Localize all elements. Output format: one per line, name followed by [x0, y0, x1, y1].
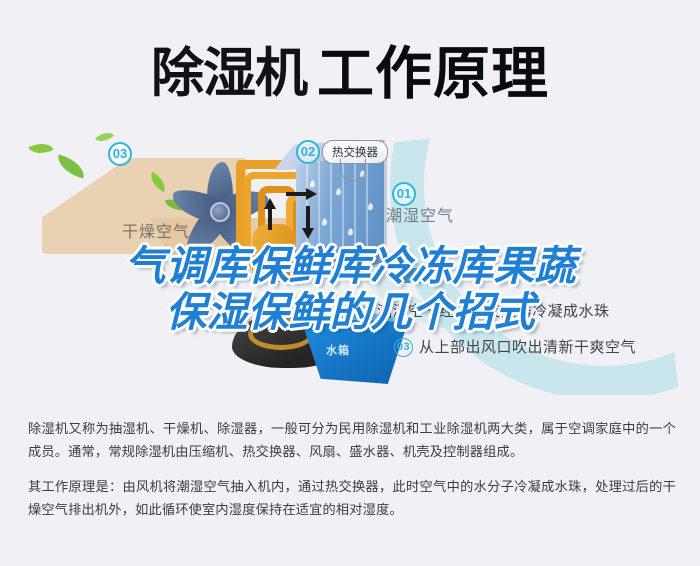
- legend-item-02: 02潮湿空气经过热交换器冷凝成水珠: [352, 300, 610, 321]
- flow-arrow-stem: [286, 192, 306, 196]
- callout-pointer: [340, 159, 366, 181]
- flow-arrow-up: [264, 198, 276, 209]
- legend-badge-03: 03: [394, 338, 413, 357]
- caption-dry-air: 干燥空气: [122, 218, 190, 242]
- flow-arrow-down: [302, 228, 314, 239]
- page-title-part2: 工作原理: [317, 42, 549, 106]
- badge-02: 02: [296, 140, 320, 164]
- flow-arrow-stem: [306, 206, 310, 228]
- water-tank-label: 水箱: [326, 342, 350, 358]
- caption-humid-air: 潮湿空气: [386, 202, 454, 226]
- dehumidifier-diagram: 水箱 03 02 01 热交换器 干燥空气 潮湿空气 02潮湿空气经过热交换器冷…: [0, 120, 700, 395]
- page-root: 除湿机工作原理: [0, 0, 700, 566]
- badge-03: 03: [108, 142, 132, 166]
- leaf-icon: [95, 128, 114, 147]
- article-body: 除湿机又称为抽湿机、干燥机、除湿器，一般可分为民用除湿机和工业除湿机两大类，属于…: [28, 418, 676, 521]
- paragraph-2: 其工作原理是：由风机将潮湿空气抽入机内，通过热交换器，此时空气中的水分子冷凝成水…: [28, 476, 676, 521]
- water-tank-icon: [296, 318, 408, 384]
- legend-text-02: 潮湿空气经过热交换器冷凝成水珠: [377, 303, 610, 320]
- legend-text-03: 从上部出风口吹出清新干爽空气: [419, 339, 636, 356]
- page-title-part1: 除湿机: [151, 44, 307, 103]
- legend-item-03: 03从上部出风口吹出清新干爽空气: [394, 336, 636, 357]
- flow-arrow-stem: [268, 208, 272, 230]
- paragraph-1: 除湿机又称为抽湿机、干燥机、除湿器，一般可分为民用除湿机和工业除湿机两大类，属于…: [28, 418, 676, 463]
- legend-badge-02: 02: [352, 302, 371, 321]
- flow-arrow-right: [306, 188, 317, 200]
- fan-hub: [210, 202, 230, 222]
- humid-air-inlet-arrow: [386, 268, 440, 283]
- page-title: 除湿机工作原理: [0, 28, 700, 110]
- leaf-icon: [28, 138, 53, 159]
- leaf-icon: [54, 154, 87, 178]
- compressor-body: [252, 224, 296, 282]
